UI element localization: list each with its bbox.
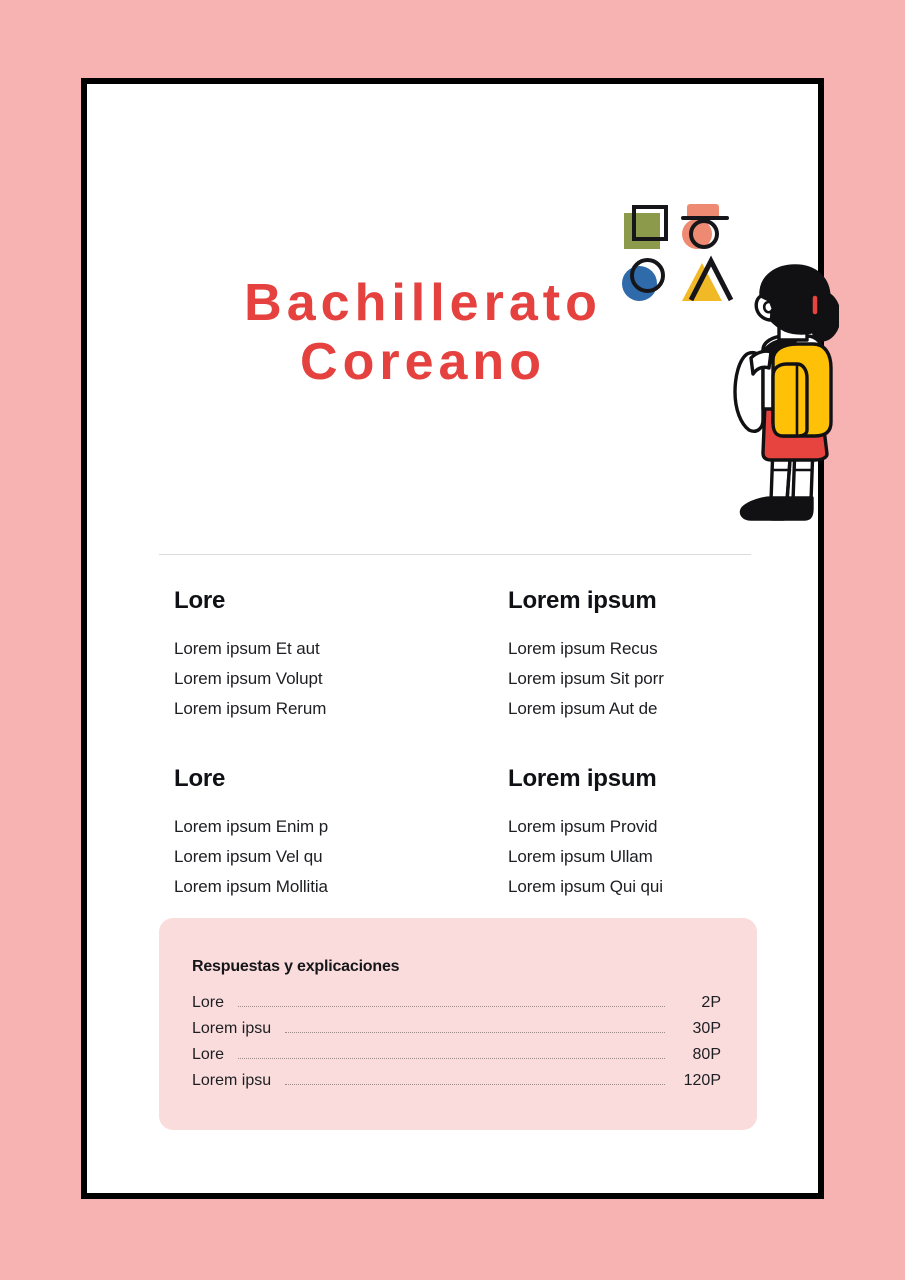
answer-row: Lore 2P <box>192 994 721 1012</box>
section-item: Lorem ipsum Rerum <box>174 694 508 724</box>
answer-row: Lorem ipsu 120P <box>192 1072 721 1090</box>
section-item: Lorem ipsum Volupt <box>174 664 508 694</box>
answer-label: Lore <box>192 994 224 1012</box>
answer-value: 30P <box>679 1020 721 1038</box>
page-title: Bachillerato Coreano <box>223 274 623 392</box>
answer-label: Lorem ipsu <box>192 1072 271 1090</box>
sections-grid: Lore Lorem ipsum Et aut Lorem ipsum Volu… <box>174 587 754 902</box>
answer-label: Lorem ipsu <box>192 1020 271 1038</box>
answers-panel: Respuestas y explicaciones Lore 2P Lorem… <box>159 918 757 1130</box>
section-heading: Lore <box>174 765 508 793</box>
answer-value: 80P <box>679 1046 721 1064</box>
section-item: Lorem ipsum Sit porr <box>508 664 754 694</box>
section-item: Lorem ipsum Qui qui <box>508 872 754 902</box>
leader-line <box>238 1006 665 1007</box>
poster-header: Bachillerato Coreano <box>159 84 746 554</box>
blue-circle-icon <box>622 255 676 307</box>
answer-row: Lore 80P <box>192 1046 721 1064</box>
section-item: Lorem ipsum Aut de <box>508 694 754 724</box>
section-divider <box>159 554 751 555</box>
leader-line <box>285 1032 665 1033</box>
green-square-icon <box>622 201 676 253</box>
section-item: Lorem ipsum Et aut <box>174 634 508 664</box>
answer-label: Lore <box>192 1046 224 1064</box>
answer-value: 2P <box>679 994 721 1012</box>
title-block: Bachillerato Coreano <box>223 274 623 392</box>
poster-card: Bachillerato Coreano <box>81 78 824 1199</box>
section-block-3: Lore Lorem ipsum Enim p Lorem ipsum Vel … <box>174 765 508 902</box>
section-heading: Lorem ipsum <box>508 587 754 615</box>
section-item: Lorem ipsum Provid <box>508 812 754 842</box>
answer-value: 120P <box>679 1072 721 1090</box>
section-block-4: Lorem ipsum Lorem ipsum Provid Lorem ips… <box>508 765 754 902</box>
leader-line <box>285 1084 665 1085</box>
section-item: Lorem ipsum Ullam <box>508 842 754 872</box>
section-block-2: Lorem ipsum Lorem ipsum Recus Lorem ipsu… <box>508 587 754 724</box>
student-with-backpack-illustration <box>721 264 839 530</box>
section-block-1: Lore Lorem ipsum Et aut Lorem ipsum Volu… <box>174 587 508 724</box>
leader-line <box>238 1058 665 1059</box>
section-heading: Lore <box>174 587 508 615</box>
section-item: Lorem ipsum Recus <box>508 634 754 664</box>
section-item: Lorem ipsum Enim p <box>174 812 508 842</box>
section-heading: Lorem ipsum <box>508 765 754 793</box>
salmon-bar-ring-icon <box>680 201 734 253</box>
section-item: Lorem ipsum Mollitia <box>174 872 508 902</box>
answer-row: Lorem ipsu 30P <box>192 1020 721 1038</box>
answers-panel-title: Respuestas y explicaciones <box>192 958 721 976</box>
section-item: Lorem ipsum Vel qu <box>174 842 508 872</box>
